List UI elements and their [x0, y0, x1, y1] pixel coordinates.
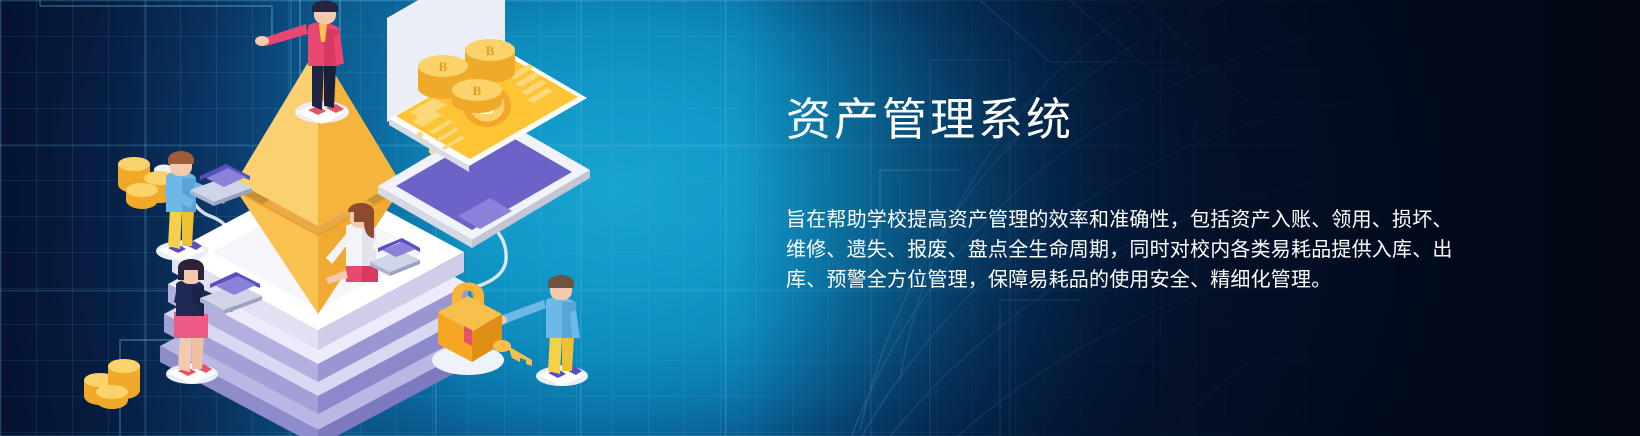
- hero-illustration: B B B B: [60, 0, 600, 436]
- person-hoverboard-pink: [255, 1, 349, 125]
- person-with-key: [493, 275, 588, 386]
- asset-management-banner: B B B B: [0, 0, 1640, 436]
- gold-coin-cluster-lower: [84, 359, 140, 409]
- page-description: 旨在帮助学校提高资产管理的效率和准确性，包括资产入账、领用、损坏、维修、遗失、报…: [786, 148, 1461, 295]
- svg-text:B: B: [473, 83, 482, 98]
- page-title: 资产管理系统: [786, 92, 1476, 148]
- banner-copy: 资产管理系统 旨在帮助学校提高资产管理的效率和准确性，包括资产入账、领用、损坏、…: [786, 92, 1476, 295]
- svg-text:B: B: [486, 43, 495, 58]
- laptop-bitcoin-screen: B: [378, 0, 590, 248]
- svg-text:B: B: [439, 59, 448, 74]
